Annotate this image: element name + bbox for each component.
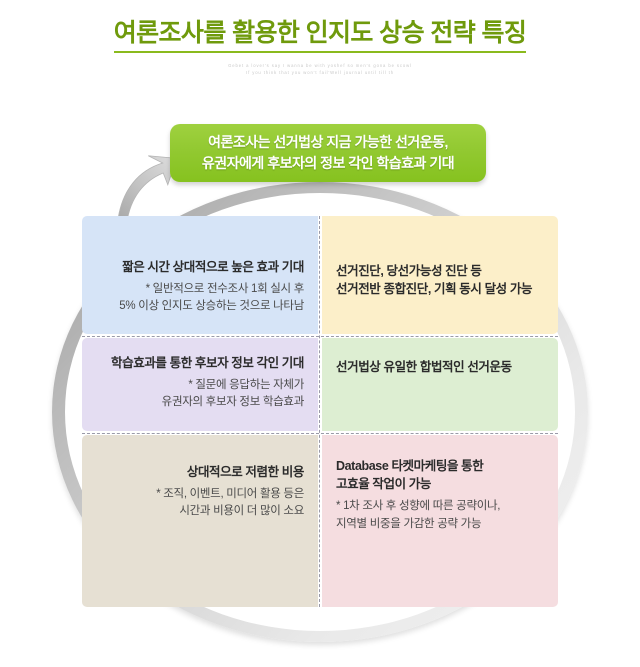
strategy-cell-grid: 짧은 시간 상대적으로 높은 효과 기대 * 일반적으로 전수조사 1회 실시 … [82,216,558,607]
grid-row-middle: 학습효과를 통한 후보자 정보 각인 기대 * 질문에 응답하는 자체가 유권자… [82,338,558,431]
cell-heading: 선거진단, 당선가능성 진단 등 선거전반 종합진단, 기획 동시 달성 가능 [336,262,544,298]
cell-body: * 조직, 이벤트, 미디어 활용 등은 시간과 비용이 더 많이 소요 [96,486,304,521]
cell-election-diagnosis[interactable]: 선거진단, 당선가능성 진단 등 선거전반 종합진단, 기획 동시 달성 가능 [322,216,558,334]
page-title: 여론조사를 활용한 인지도 상승 전략 특징 [114,20,527,53]
subtitle-decorative-text: Gebet a lover's say I wanna be with yosh… [0,62,640,76]
title-block: 여론조사를 활용한 인지도 상승 전략 특징 Gebet a lover's s… [0,20,640,76]
cell-body: * 일반적으로 전수조사 1회 실시 후 5% 이상 인지도 상승하는 것으로 … [96,281,304,316]
cell-short-time-high-effect[interactable]: 짧은 시간 상대적으로 높은 효과 기대 * 일반적으로 전수조사 1회 실시 … [82,216,318,334]
cell-heading: 짧은 시간 상대적으로 높은 효과 기대 [96,258,304,276]
horizontal-divider-1 [82,336,558,337]
summary-banner[interactable]: 여론조사는 선거법상 지금 가능한 선거운동, 유권자에게 후보자의 정보 각인… [170,124,486,182]
cell-heading: 상대적으로 저렴한 비용 [96,463,304,481]
vertical-divider [319,216,320,607]
cell-body: * 1차 조사 후 성향에 따른 공략이나, 지역별 비중을 가감한 공략 가능 [336,498,544,533]
cell-only-legal-campaign[interactable]: 선거법상 유일한 합법적인 선거운동 [322,338,558,431]
cell-heading: 학습효과를 통한 후보자 정보 각인 기대 [96,354,304,372]
grid-row-bottom: 상대적으로 저렴한 비용 * 조직, 이벤트, 미디어 활용 등은 시간과 비용… [82,435,558,607]
summary-banner-text: 여론조사는 선거법상 지금 가능한 선거운동, 유권자에게 후보자의 정보 각인… [202,132,454,174]
grid-row-top: 짧은 시간 상대적으로 높은 효과 기대 * 일반적으로 전수조사 1회 실시 … [82,216,558,334]
cell-heading: 선거법상 유일한 합법적인 선거운동 [336,358,544,376]
cell-database-target-marketing[interactable]: Database 타켓마케팅을 통한 고효율 작업이 가능 * 1차 조사 후 … [322,435,558,607]
cell-body: * 질문에 응답하는 자체가 유권자의 후보자 정보 학습효과 [96,377,304,412]
cell-learning-effect[interactable]: 학습효과를 통한 후보자 정보 각인 기대 * 질문에 응답하는 자체가 유권자… [82,338,318,431]
cell-relatively-low-cost[interactable]: 상대적으로 저렴한 비용 * 조직, 이벤트, 미디어 활용 등은 시간과 비용… [82,435,318,607]
horizontal-divider-2 [82,433,558,434]
cell-heading: Database 타켓마케팅을 통한 고효율 작업이 가능 [336,457,544,493]
